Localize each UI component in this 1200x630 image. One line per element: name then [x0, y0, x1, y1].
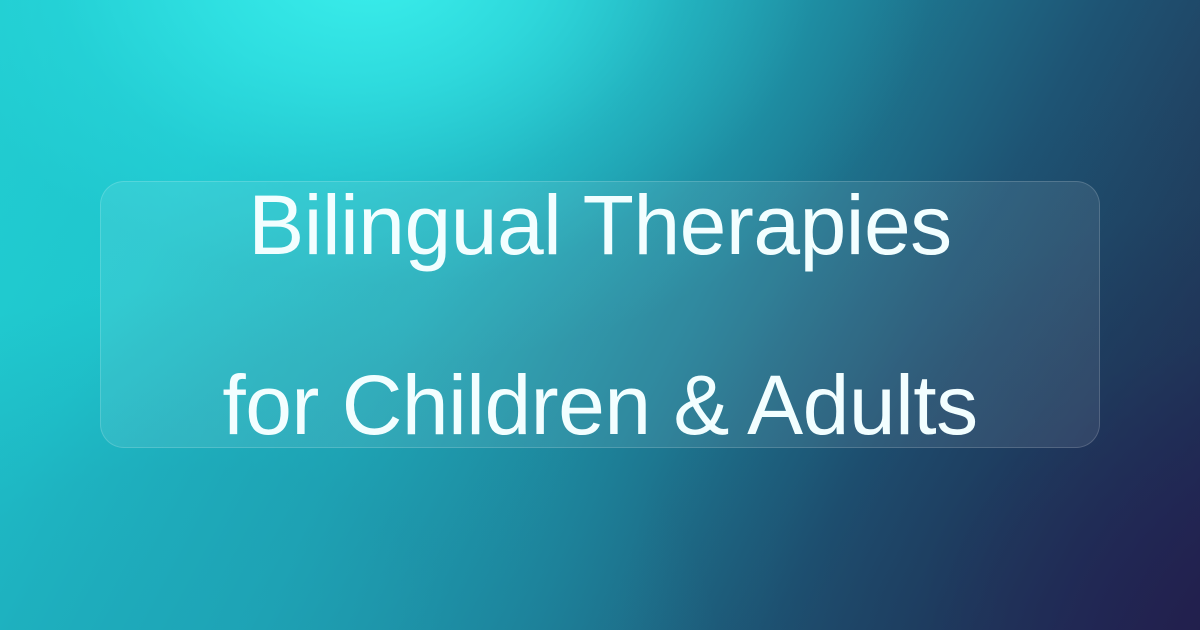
page-title-line-2: for Children & Adults: [222, 360, 977, 450]
og-card-canvas: Bilingual Therapies for Children & Adult…: [0, 0, 1200, 630]
hero-card: Bilingual Therapies for Children & Adult…: [100, 181, 1100, 448]
page-title-line-1: Bilingual Therapies: [222, 180, 977, 270]
page-title: Bilingual Therapies for Children & Adult…: [190, 90, 1009, 540]
